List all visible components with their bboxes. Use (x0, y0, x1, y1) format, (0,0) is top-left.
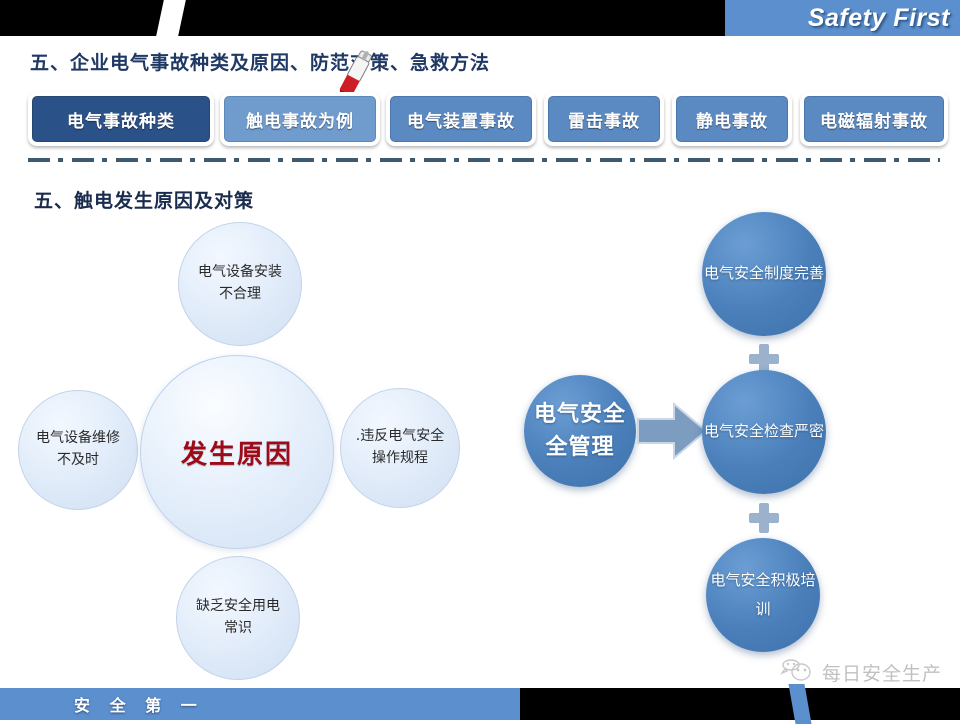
tab-electromagnetic-radiation-accident[interactable]: 电磁辐射事故 (800, 92, 948, 146)
cause-node-right: .违反电气安全操作规程 (340, 388, 460, 508)
tab-electric-shock-example[interactable]: 触电事故为例 (220, 92, 380, 146)
measure-node-system-label: 电气安全制度完善 (704, 259, 824, 288)
cause-node-right-label: .违反电气安全操作规程 (341, 426, 459, 469)
cause-node-bottom-label: 缺乏安全用电常识 (177, 596, 299, 639)
cause-node-bottom: 缺乏安全用电常识 (176, 556, 300, 680)
header-black-bar-right (175, 0, 725, 36)
header-black-bar-left (0, 0, 165, 36)
footer-black-bar (520, 688, 960, 720)
tab-label: 电气装置事故 (407, 107, 515, 132)
brand-title: Safety First (725, 0, 950, 36)
page-header: Safety First (0, 0, 960, 36)
cause-node-top: 电气设备安装不合理 (178, 222, 302, 346)
tab-label: 雷击事故 (568, 107, 640, 132)
tab-lightning-accident[interactable]: 雷击事故 (544, 92, 664, 146)
cause-center-node: 发生原因 (140, 355, 334, 549)
cause-node-left: 电气设备维修不及时 (18, 390, 138, 510)
cause-node-left-label: 电气设备维修不及时 (19, 428, 137, 471)
wechat-ghost-icon (779, 659, 815, 685)
tab-electrical-accident-types[interactable]: 电气事故种类 (28, 92, 214, 146)
page-footer: 安 全 第 一 (0, 688, 960, 720)
measure-node-system: 电气安全制度完善 (702, 212, 826, 336)
tab-electrical-device-accident[interactable]: 电气装置事故 (386, 92, 536, 146)
slide-title: 五、企业电气事故种类及原因、防范对策、急救方法 (30, 48, 490, 75)
measure-node-inspection-label: 电气安全检查严密 (704, 417, 824, 446)
watermark-text: 每日安全生产 (822, 659, 942, 686)
section-sub-heading: 五、触电发生原因及对策 (34, 186, 254, 213)
tab-static-electricity-accident[interactable]: 静电事故 (672, 92, 792, 146)
tab-label: 静电事故 (696, 107, 768, 132)
measure-node-training-label: 电气安全积极培训 (706, 566, 820, 625)
measures-hub-label: 电气安全全管理 (524, 398, 636, 464)
footer-slogan: 安 全 第 一 (74, 688, 204, 720)
measure-node-inspection: 电气安全检查严密 (702, 370, 826, 494)
cause-node-top-label: 电气设备安装不合理 (179, 262, 301, 305)
divider-dash-dot-line (28, 158, 940, 162)
measure-node-training: 电气安全积极培训 (706, 538, 820, 652)
tab-label: 电磁辐射事故 (820, 107, 928, 132)
measures-hub-node: 电气安全全管理 (524, 375, 636, 487)
tab-label: 触电事故为例 (246, 107, 354, 132)
plus-icon-bottom (749, 503, 779, 533)
tab-label: 电气事故种类 (67, 107, 175, 132)
arrow-right-icon (636, 398, 708, 464)
cause-center-label: 发生原因 (181, 434, 293, 471)
category-tab-row[interactable]: 电气事故种类 触电事故为例 电气装置事故 雷击事故 静电事故 电磁辐射事故 (28, 92, 938, 150)
